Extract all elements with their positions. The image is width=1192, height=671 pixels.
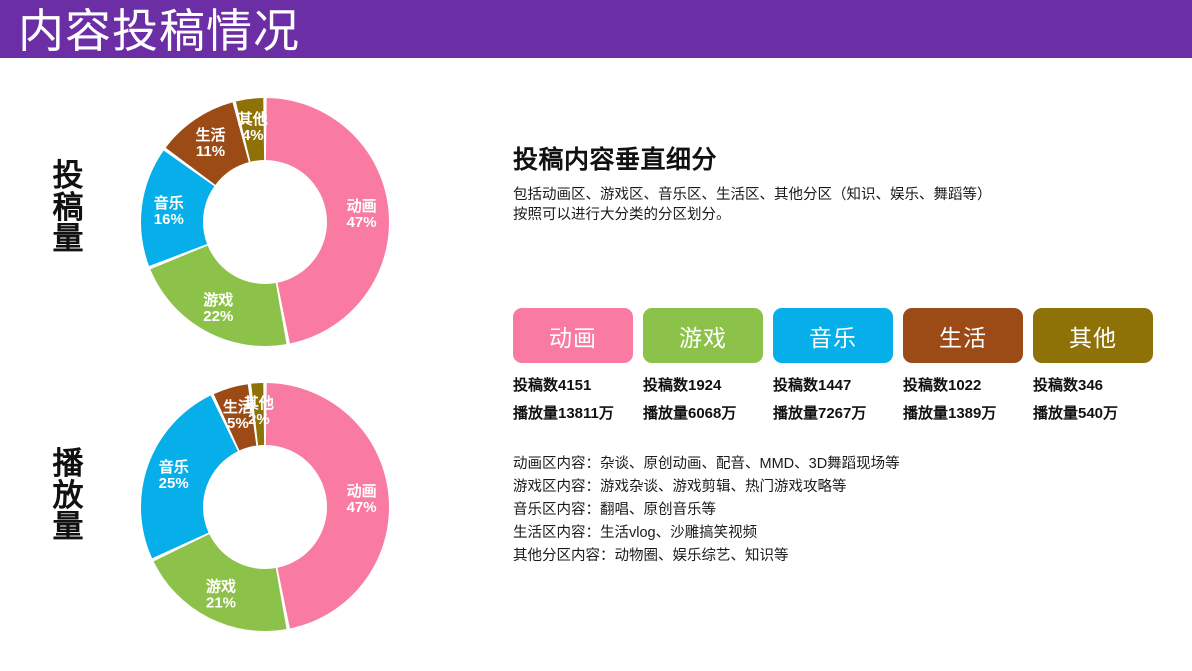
content-list-line: 动画区内容：杂谈、原创动画、配音、MMD、3D舞蹈现场等 [513,453,1173,476]
category-card[interactable]: 动画投稿数4151播放量13811万 [513,308,633,423]
donut-slice-label: 其他2% [244,394,274,428]
category-card[interactable]: 生活投稿数1022播放量1389万 [903,308,1023,423]
axis-label-char: 放 [46,480,90,512]
category-play-count: 播放量6068万 [643,402,763,423]
donut-svg-submissions: 动画47%游戏22%音乐16%生活11%其他4% [136,93,394,351]
donut-slice-label: 音乐25% [159,458,189,492]
category-play-count: 播放量7267万 [773,402,893,423]
donut-chart-plays: 动画47%游戏21%音乐25%生活5%其他2% [136,378,394,636]
donut-svg-plays: 动画47%游戏21%音乐25%生活5%其他2% [136,378,394,636]
section-description-line: 包括动画区、游戏区、音乐区、生活区、其他分区（知识、娱乐、舞蹈等） [513,185,1173,205]
category-content-list: 动画区内容：杂谈、原创动画、配音、MMD、3D舞蹈现场等游戏区内容：游戏杂谈、游… [513,453,1173,568]
donut-slice-label: 动画47% [347,197,377,231]
vertical-breakdown-panel: 投稿内容垂直细分 包括动画区、游戏区、音乐区、生活区、其他分区（知识、娱乐、舞蹈… [513,140,1173,225]
donut-slice-label: 游戏22% [203,291,233,325]
page-title: 内容投稿情况 [18,2,300,60]
category-submission-count: 投稿数346 [1033,374,1153,395]
donut-slice-label: 其他4% [238,110,268,144]
donut-slice-label: 游戏21% [206,577,236,611]
donut-slice [141,396,238,559]
donut-slice-label: 动画47% [347,482,377,516]
axis-label-char: 量 [46,511,90,543]
category-play-count: 播放量13811万 [513,402,633,423]
category-card-row: 动画投稿数4151播放量13811万游戏投稿数1924播放量6068万音乐投稿数… [513,308,1173,423]
category-chip[interactable]: 生活 [903,308,1023,363]
category-chip[interactable]: 音乐 [773,308,893,363]
category-card[interactable]: 音乐投稿数1447播放量7267万 [773,308,893,423]
category-submission-count: 投稿数1447 [773,374,893,395]
category-play-count: 播放量540万 [1033,402,1153,423]
axis-label-char: 播 [46,448,90,480]
chart-axis-label-plays: 播 放 量 [46,448,90,543]
content-list-line: 生活区内容：生活vlog、沙雕搞笑视频 [513,522,1173,545]
section-heading: 投稿内容垂直细分 [513,140,1173,176]
donut-slice-label: 音乐16% [154,194,184,228]
content-list-line: 其他分区内容：动物圈、娱乐综艺、知识等 [513,545,1173,568]
category-chip[interactable]: 动画 [513,308,633,363]
category-submission-count: 投稿数4151 [513,374,633,395]
category-chip[interactable]: 其他 [1033,308,1153,363]
axis-label-char: 稿 [46,192,90,224]
category-card[interactable]: 游戏投稿数1924播放量6068万 [643,308,763,423]
chart-axis-label-submissions: 投 稿 量 [46,160,90,255]
category-submission-count: 投稿数1924 [643,374,763,395]
category-chip[interactable]: 游戏 [643,308,763,363]
axis-label-char: 量 [46,223,90,255]
donut-chart-submissions: 动画47%游戏22%音乐16%生活11%其他4% [136,93,394,351]
content-list-line: 游戏区内容：游戏杂谈、游戏剪辑、热门游戏攻略等 [513,476,1173,499]
category-play-count: 播放量1389万 [903,402,1023,423]
axis-label-char: 投 [46,160,90,192]
section-description-line: 按照可以进行大分类的分区划分。 [513,205,1173,225]
category-card[interactable]: 其他投稿数346播放量540万 [1033,308,1153,423]
donut-slice-label: 生活11% [195,126,225,160]
content-list-line: 音乐区内容：翻唱、原创音乐等 [513,499,1173,522]
category-submission-count: 投稿数1022 [903,374,1023,395]
